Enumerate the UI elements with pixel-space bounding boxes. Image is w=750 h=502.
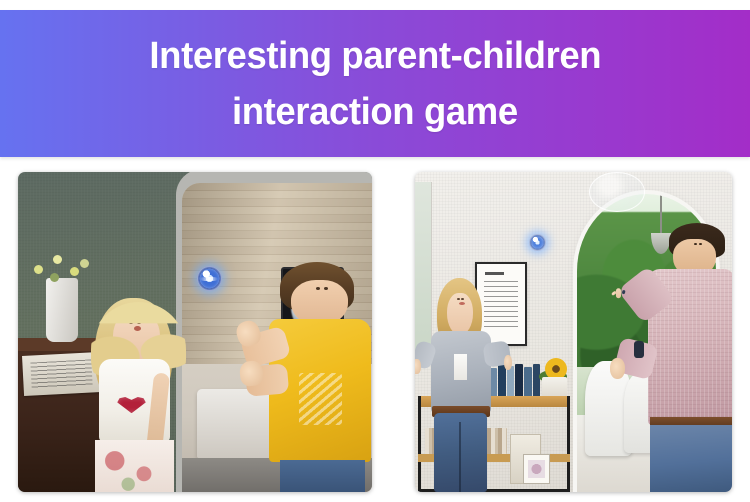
right-woman-eye-right (461, 298, 464, 300)
left-boy-eye-right (324, 287, 328, 290)
flying-ball-toy-icon (197, 266, 222, 291)
right-man-forearm (616, 288, 621, 298)
right-framed-print-title (485, 272, 504, 275)
left-scene (18, 172, 372, 492)
right-woman-figure (425, 278, 501, 492)
left-boy-figure (237, 262, 372, 492)
right-woman-jeans (434, 413, 487, 492)
right-man-figure (624, 223, 732, 492)
page-header-banner: Interesting parent-children interaction … (0, 10, 750, 157)
left-boy-shirt-print (299, 373, 342, 424)
left-boy-eye-left (316, 287, 320, 290)
right-woman-cardigan (431, 331, 492, 412)
photo-left-children[interactable] (18, 172, 372, 492)
right-scene (415, 172, 732, 492)
right-woman-eye-left (457, 298, 460, 300)
right-man-wristwatch (634, 341, 645, 357)
right-man-eye-right (699, 243, 702, 245)
photo-right-adults[interactable] (415, 172, 732, 492)
left-flower-bouquet (29, 252, 100, 290)
right-woman-mouth (459, 302, 465, 305)
right-man-jeans (650, 425, 732, 492)
right-man-sleeve-cuff (622, 290, 626, 295)
left-boy-jeans (280, 460, 365, 492)
right-woman-hand-left (415, 359, 421, 374)
left-girl-skirt (95, 440, 174, 492)
left-girl-figure (89, 294, 188, 492)
right-small-floor-frame (523, 454, 550, 485)
banner-title-line-1: Interesting parent-children (149, 28, 601, 84)
photo-gallery-row (0, 172, 750, 492)
right-man-lower-hand (610, 358, 625, 380)
left-girl-sequin-heart (117, 397, 146, 414)
right-woman-hand-right (504, 355, 512, 370)
right-woman-inner-top (454, 354, 467, 380)
banner-title-line-2: interaction game (232, 84, 518, 140)
right-man-eye-left (694, 243, 697, 245)
